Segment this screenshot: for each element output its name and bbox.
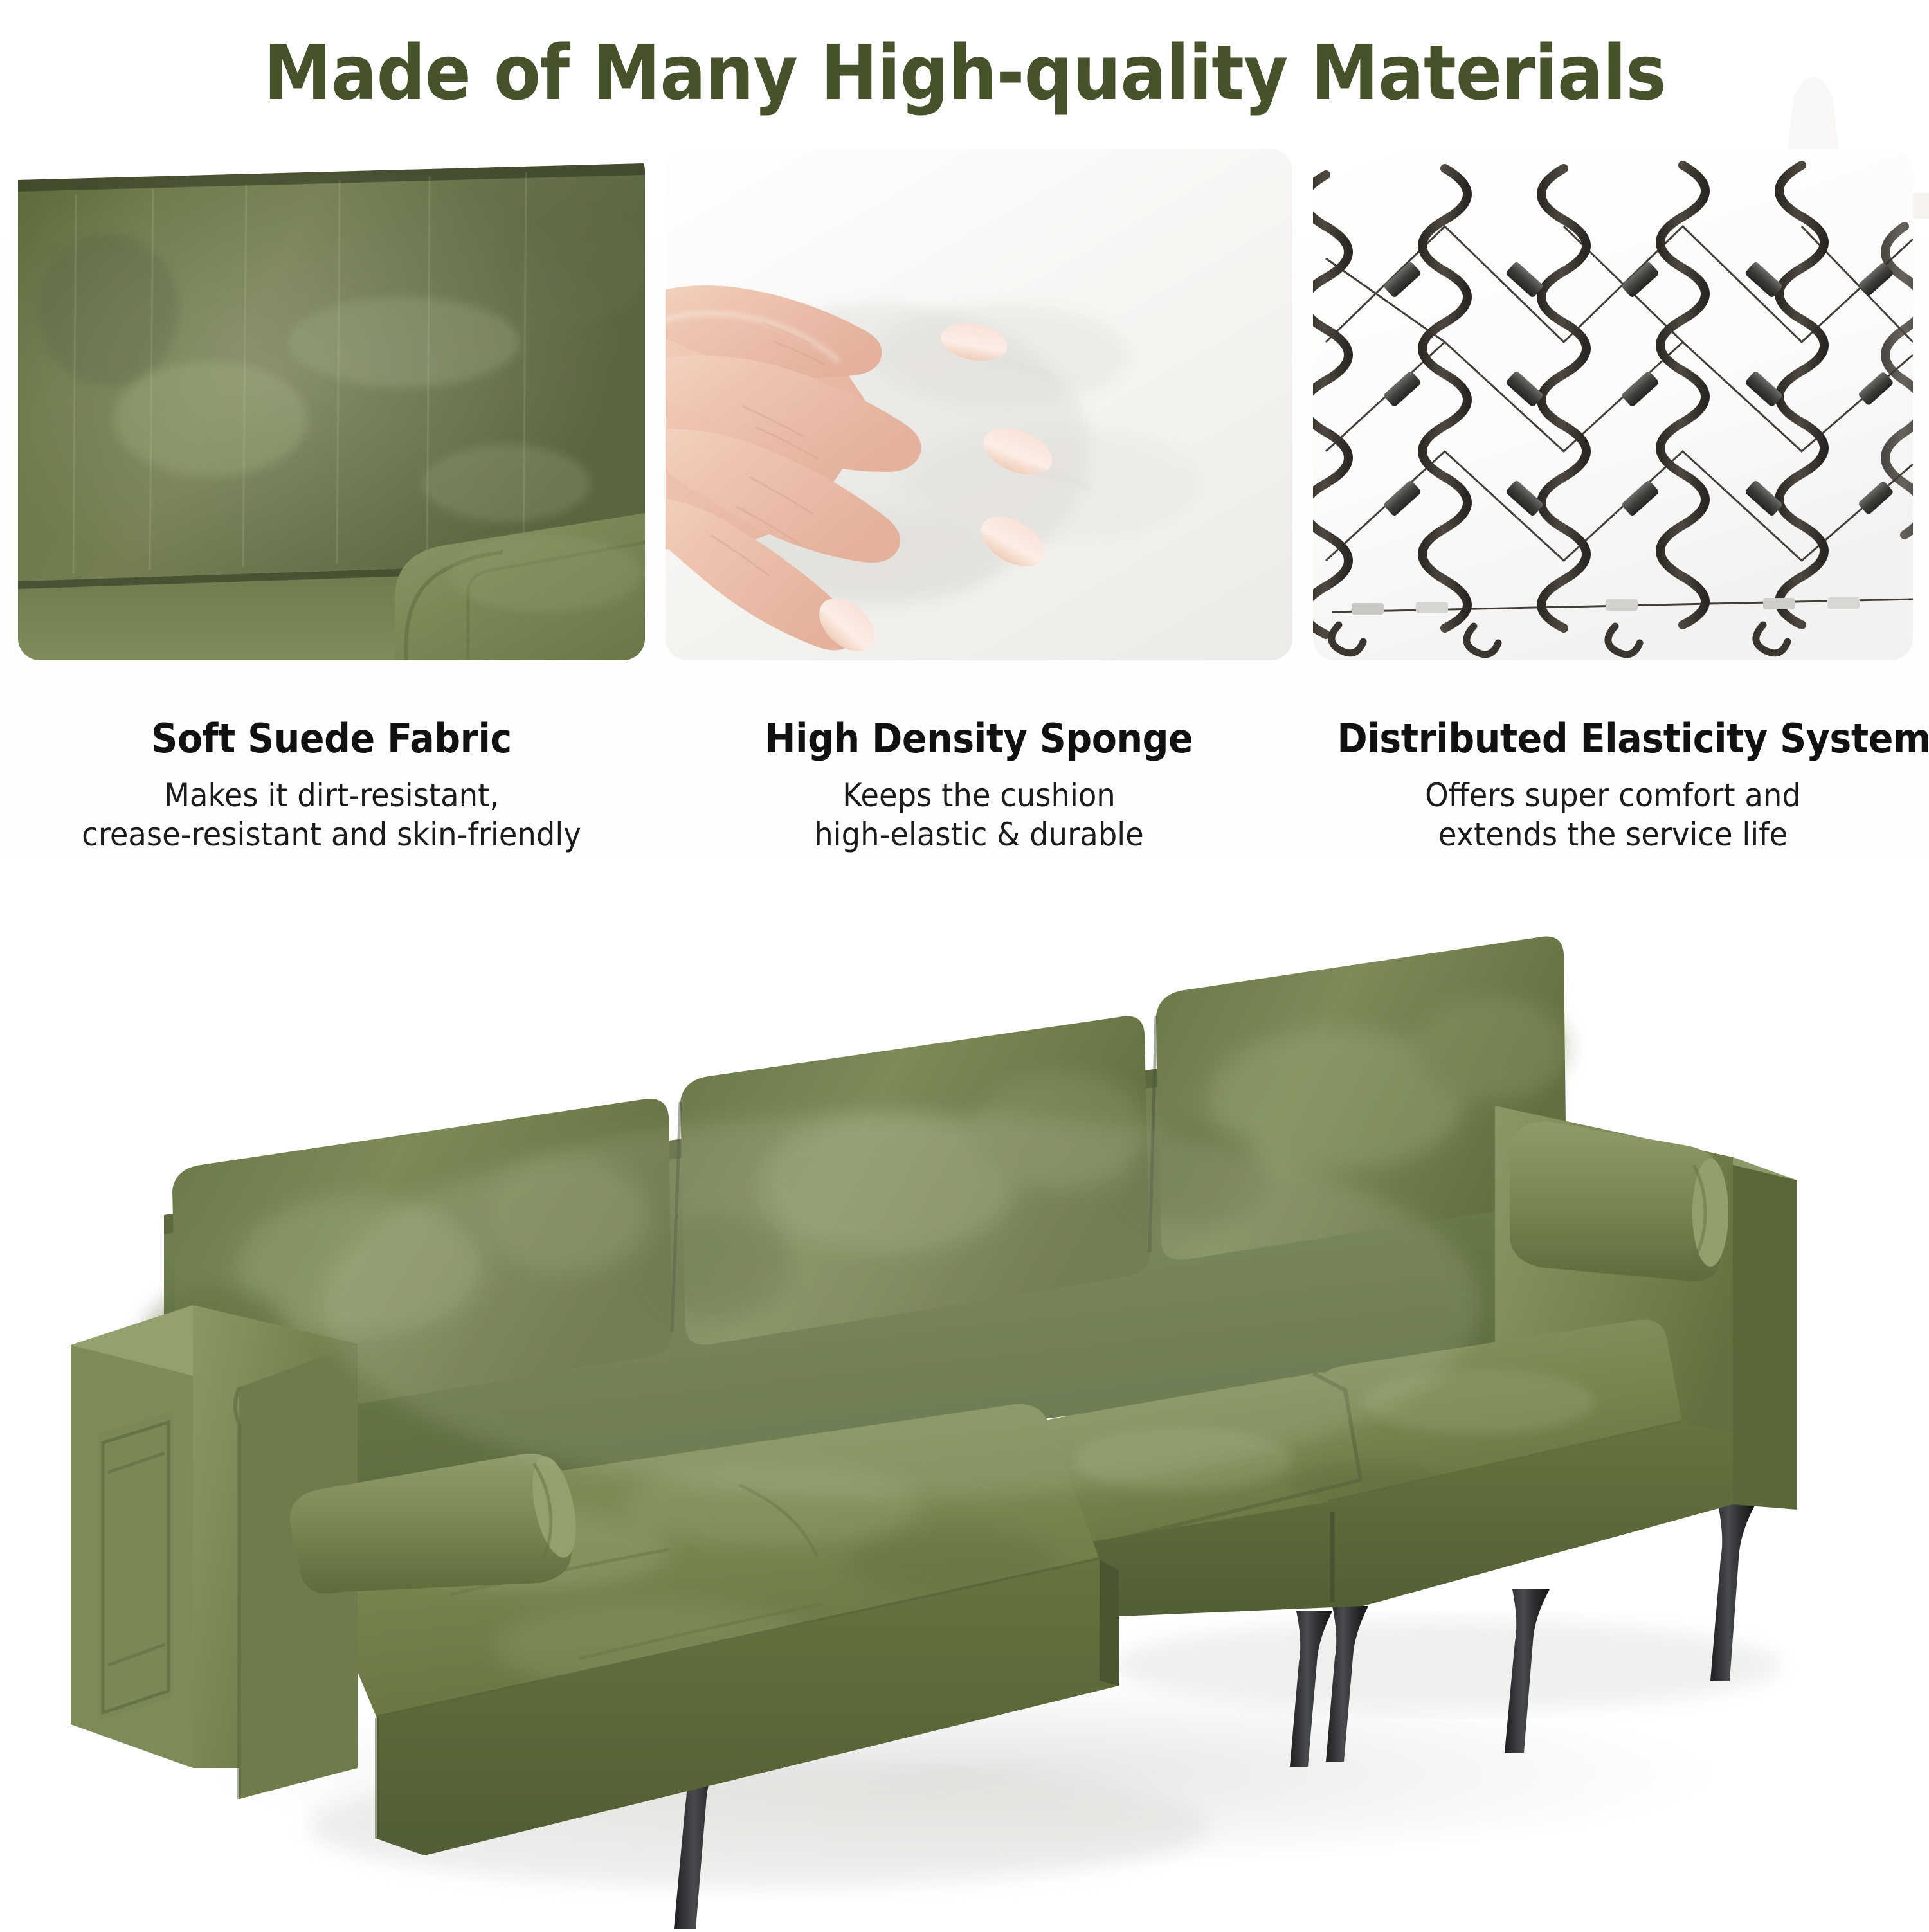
hero-product-image	[0, 855, 1929, 1929]
feature-caption-high-density-sponge: High Density Sponge Keeps the cushion hi…	[666, 715, 1292, 854]
feature-image-distributed-elasticity-system	[1313, 149, 1913, 660]
feature-description-line-1: Makes it dirt-resistant,	[40, 776, 623, 815]
feature-caption-soft-suede-fabric: Soft Suede Fabric Makes it dirt-resistan…	[18, 715, 645, 854]
feature-description-line-1: Keeps the cushion	[687, 776, 1271, 815]
feature-description: Makes it dirt-resistant, crease-resistan…	[40, 776, 623, 854]
page-title-text: Made of Many High-quality Materials	[264, 28, 1665, 117]
page-title: Made of Many High-quality Materials	[0, 18, 1929, 127]
feature-description: Offers super comfort and extends the ser…	[1334, 776, 1892, 854]
feature-description-line-1: Offers super comfort and	[1334, 776, 1892, 815]
feature-title: Soft Suede Fabric	[43, 715, 620, 762]
feature-title: High Density Sponge	[691, 715, 1267, 762]
side-storage-pocket	[98, 1412, 172, 1720]
feature-description-line-2: crease-resistant and skin-friendly	[40, 815, 623, 854]
feature-caption-distributed-elasticity-system: Distributed Elasticity System Offers sup…	[1313, 715, 1913, 854]
feature-title: Distributed Elasticity System	[1337, 715, 1888, 762]
feature-image-high-density-sponge	[666, 149, 1292, 660]
feature-description: Keeps the cushion high-elastic & durable	[687, 776, 1271, 854]
feature-image-soft-suede-fabric	[18, 149, 645, 660]
feature-description-line-2: high-elastic & durable	[687, 815, 1271, 854]
feature-description-line-2: extends the service life	[1334, 815, 1892, 854]
